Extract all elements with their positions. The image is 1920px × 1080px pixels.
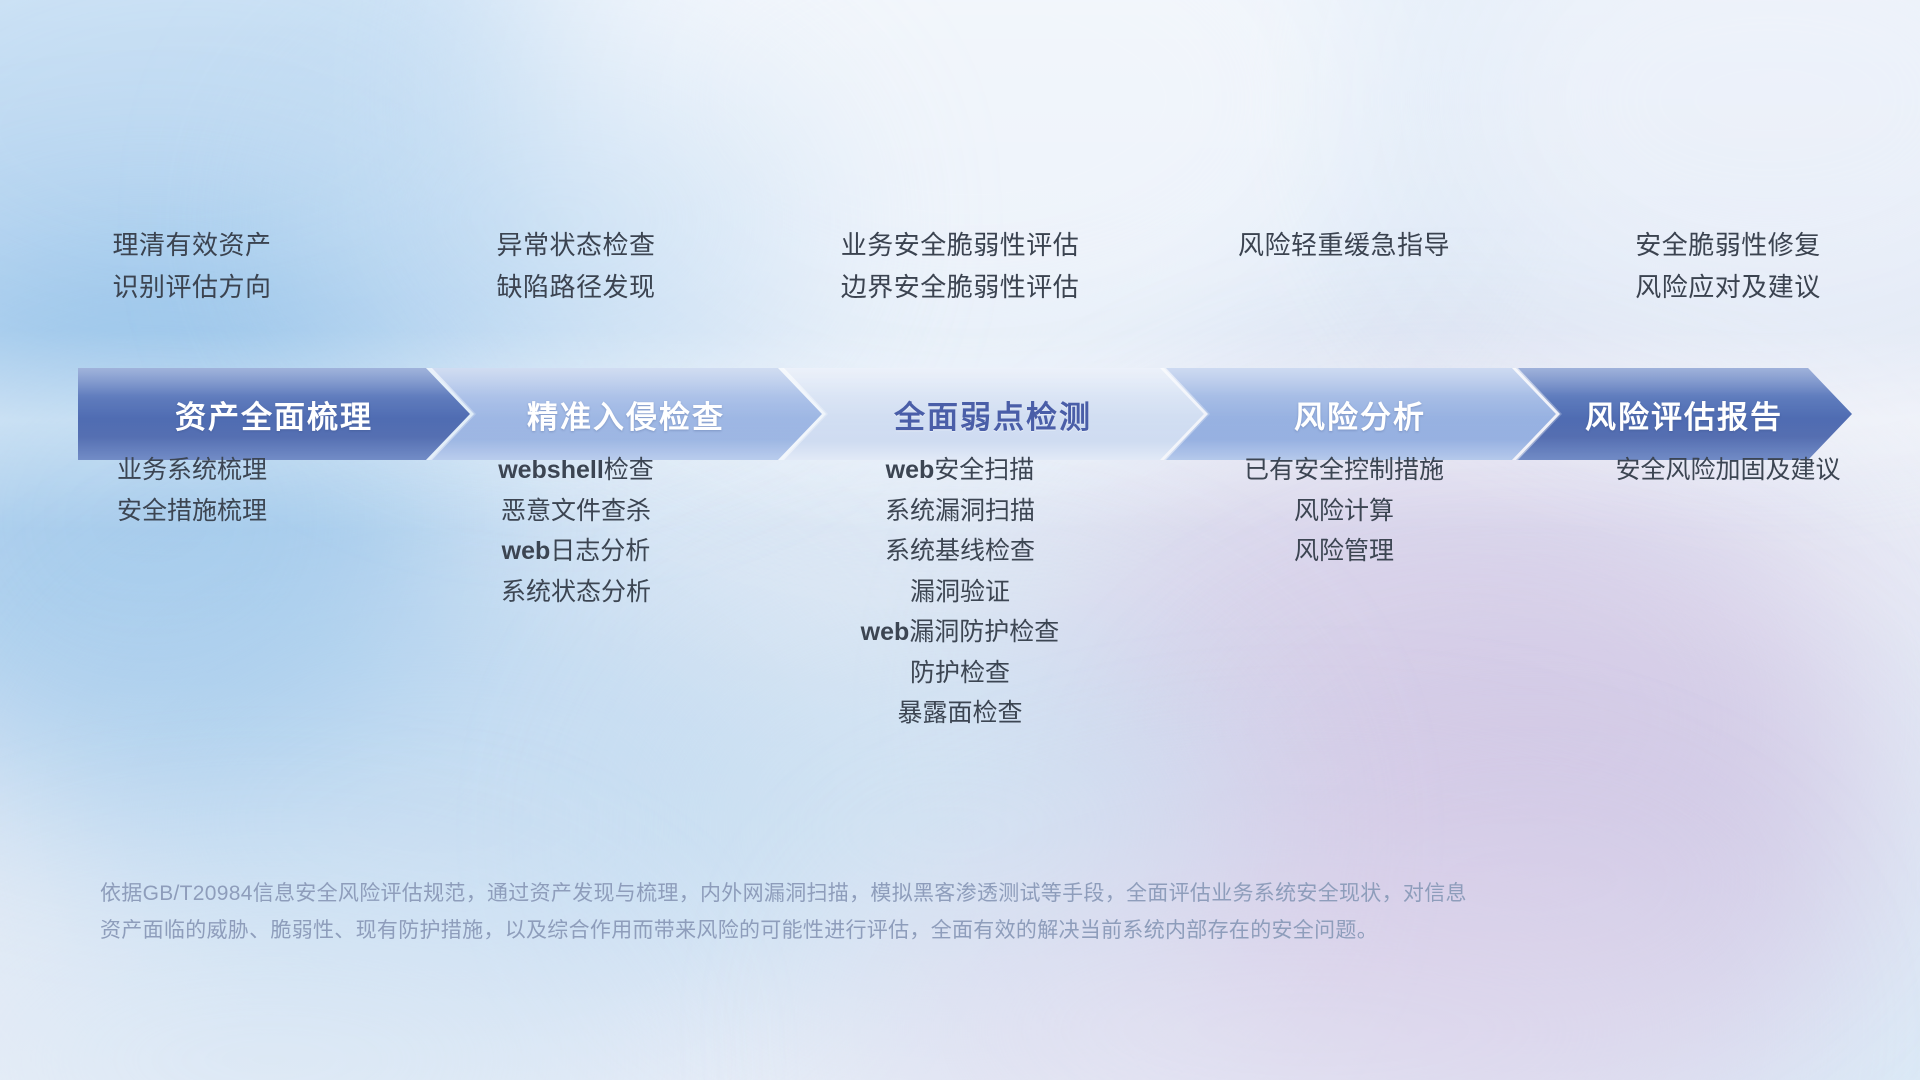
bottom-column-weakness-detection: web安全扫描系统漏洞扫描系统基线检查漏洞验证web漏洞防护检查防护检查暴露面检… xyxy=(768,450,1152,734)
top-item: 识别评估方向 xyxy=(112,266,271,308)
bottom-item: web日志分析 xyxy=(502,531,651,572)
top-column-weakness-detection: 业务安全脆弱性评估 边界安全脆弱性评估 xyxy=(768,224,1152,334)
footer-line: 依据GB/T20984信息安全风险评估规范，通过资产发现与梳理，内外网漏洞扫描，… xyxy=(100,875,1620,912)
stage-chevron-risk-report[interactable]: 风险评估报告 xyxy=(1516,368,1852,460)
process-diagram: 理清有效资产 识别评估方向 异常状态检查 缺陷路径发现 业务安全脆弱性评估 边界… xyxy=(0,0,1920,1080)
top-item: 业务安全脆弱性评估 xyxy=(841,224,1080,266)
bottom-label-row: 业务系统梳理安全措施梳理 webshell检查恶意文件查杀web日志分析系统状态… xyxy=(0,450,1920,734)
bottom-item: 系统基线检查 xyxy=(885,531,1035,572)
bottom-item: 风险管理 xyxy=(1294,531,1394,572)
bottom-item: 暴露面检查 xyxy=(897,693,1022,734)
top-item: 异常状态检查 xyxy=(496,224,655,266)
stage-title: 资产全面梳理 xyxy=(175,392,373,437)
bottom-column-intrusion-check: webshell检查恶意文件查杀web日志分析系统状态分析 xyxy=(384,450,768,734)
bottom-item: webshell检查 xyxy=(498,450,654,491)
stage-chevron-weakness-detection[interactable]: 全面弱点检测 xyxy=(782,368,1204,460)
stage-chevron-risk-analysis[interactable]: 风险分析 xyxy=(1164,368,1556,460)
top-column-risk-report: 安全脆弱性修复 风险应对及建议 xyxy=(1536,224,1920,334)
bottom-item: 风险计算 xyxy=(1294,491,1394,532)
bottom-item: 恶意文件查杀 xyxy=(501,491,651,532)
footer-line: 资产面临的威胁、脆弱性、现有防护措施，以及综合作用而带来风险的可能性进行评估，全… xyxy=(100,912,1620,949)
stage-title: 全面弱点检测 xyxy=(894,392,1092,437)
bottom-column-risk-report: 安全风险加固及建议 xyxy=(1536,450,1920,734)
bottom-item: 防护检查 xyxy=(910,653,1010,694)
top-item: 风险应对及建议 xyxy=(1635,266,1821,308)
stage-title: 风险分析 xyxy=(1294,392,1426,437)
top-label-row: 理清有效资产 识别评估方向 异常状态检查 缺陷路径发现 业务安全脆弱性评估 边界… xyxy=(0,224,1920,334)
bottom-item: web安全扫描 xyxy=(886,450,1035,491)
top-column-risk-analysis: 风险轻重缓急指导 xyxy=(1152,224,1536,334)
bottom-column-risk-analysis: 已有安全控制措施风险计算风险管理 xyxy=(1152,450,1536,734)
bottom-item: 系统状态分析 xyxy=(501,572,651,613)
top-item: 风险轻重缓急指导 xyxy=(1238,224,1450,266)
top-column-asset-inventory: 理清有效资产 识别评估方向 xyxy=(0,224,384,334)
footer-description: 依据GB/T20984信息安全风险评估规范，通过资产发现与梳理，内外网漏洞扫描，… xyxy=(100,875,1620,950)
stage-title: 风险评估报告 xyxy=(1585,392,1783,437)
bottom-item: 业务系统梳理 xyxy=(117,450,267,491)
top-item: 缺陷路径发现 xyxy=(496,266,655,308)
bottom-item: 安全风险加固及建议 xyxy=(1615,450,1840,491)
stage-chevron-asset-inventory[interactable]: 资产全面梳理 xyxy=(78,368,470,460)
stage-chevron-banner: 资产全面梳理 精准入侵检查 全面弱点检测 风险分析 风险评估报告 xyxy=(78,368,1852,460)
top-item: 安全脆弱性修复 xyxy=(1635,224,1821,266)
stage-title: 精准入侵检查 xyxy=(527,392,725,437)
bottom-item: 安全措施梳理 xyxy=(117,491,267,532)
stage-chevron-intrusion-check[interactable]: 精准入侵检查 xyxy=(430,368,822,460)
top-column-intrusion-check: 异常状态检查 缺陷路径发现 xyxy=(384,224,768,334)
bottom-item: 漏洞验证 xyxy=(910,572,1010,613)
bottom-item: 系统漏洞扫描 xyxy=(885,491,1035,532)
bottom-item: 已有安全控制措施 xyxy=(1244,450,1444,491)
bottom-item: web漏洞防护检查 xyxy=(861,612,1060,653)
top-item: 边界安全脆弱性评估 xyxy=(841,266,1080,308)
top-item: 理清有效资产 xyxy=(112,224,271,266)
bottom-column-asset-inventory: 业务系统梳理安全措施梳理 xyxy=(0,450,384,734)
